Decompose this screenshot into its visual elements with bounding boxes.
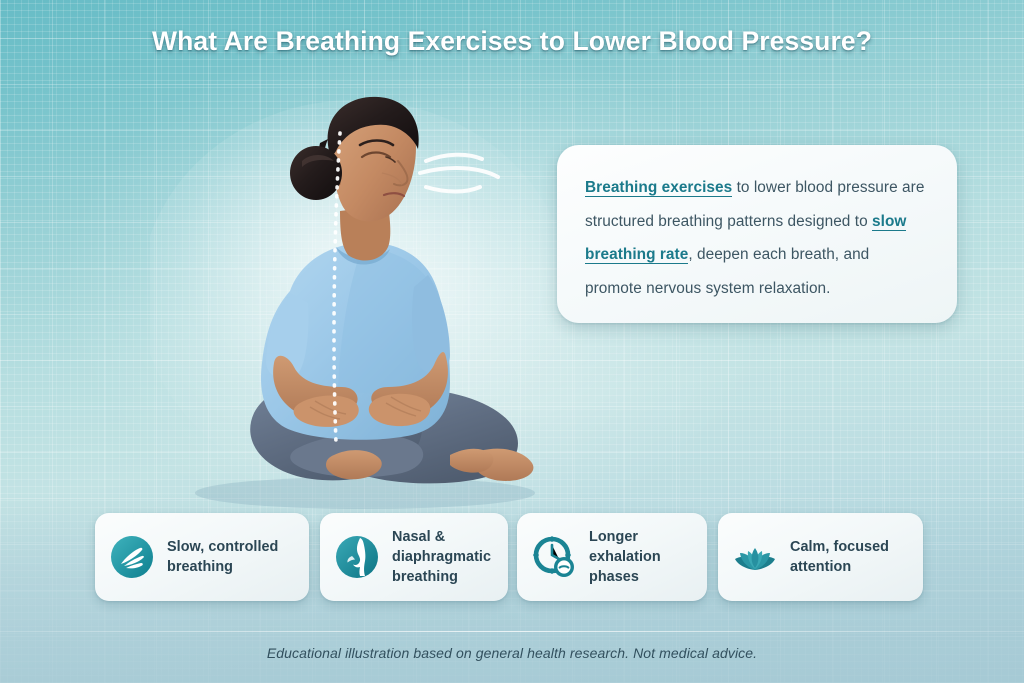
feature-chip-row: Slow, controlled breathing Nasal & diaph [0, 513, 1024, 605]
chip-label: Nasal & diaphragmatic breathing [392, 527, 498, 587]
highlight-breathing-exercises: Breathing exercises [585, 179, 732, 197]
meditation-illustration [150, 95, 610, 515]
chip-calm-focused-attention[interactable]: Calm, focused attention [718, 513, 923, 601]
clock-icon [531, 534, 577, 580]
hair-bun [290, 146, 342, 200]
definition-card: Breathing exercises to lower blood press… [557, 145, 957, 323]
footer-divider [0, 631, 1024, 632]
chip-label: Calm, focused attention [790, 537, 913, 577]
chip-longer-exhalation-phases[interactable]: Longer exhalation phases [517, 513, 707, 601]
footer-disclaimer: Educational illustration based on genera… [0, 645, 1024, 661]
airflow-icon [109, 534, 155, 580]
infographic-root: What Are Breathing Exercises to Lower Bl… [0, 0, 1024, 683]
chip-slow-controlled-breathing[interactable]: Slow, controlled breathing [95, 513, 309, 601]
ankle-right [450, 449, 493, 473]
nose-profile-icon [334, 534, 380, 580]
chip-label: Longer exhalation phases [589, 527, 697, 587]
page-title: What Are Breathing Exercises to Lower Bl… [0, 26, 1024, 57]
chip-label: Slow, controlled breathing [167, 537, 299, 577]
lotus-icon [732, 534, 778, 580]
chip-nasal-diaphragmatic-breathing[interactable]: Nasal & diaphragmatic breathing [320, 513, 508, 601]
floor-shadow [195, 477, 535, 509]
definition-text: Breathing exercises to lower blood press… [585, 171, 927, 305]
